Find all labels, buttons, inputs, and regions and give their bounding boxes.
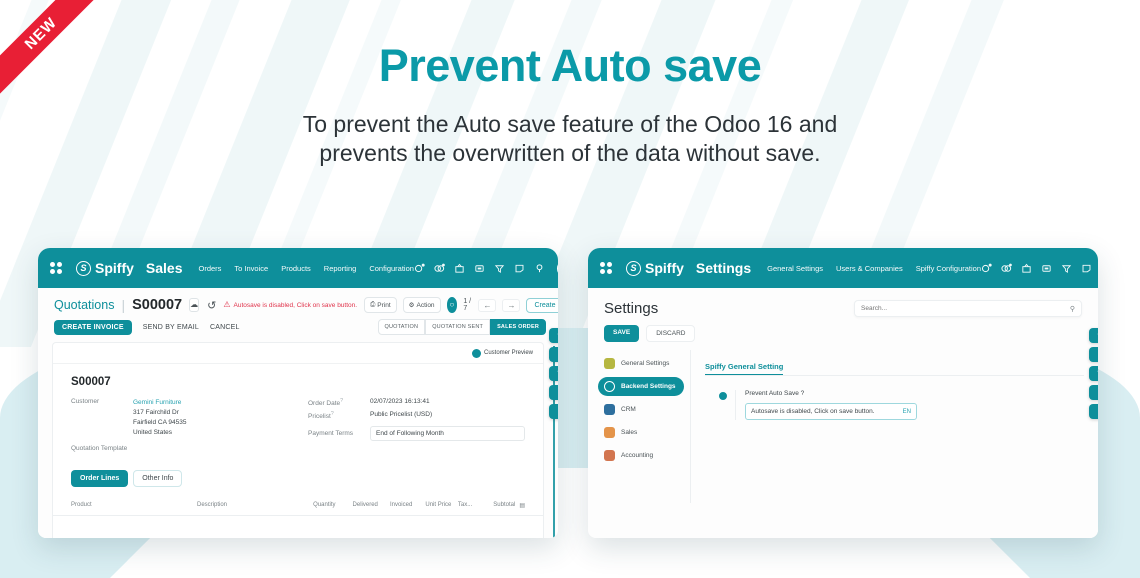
field-order-date-value[interactable]: 02/07/2023 16:13:41 xyxy=(370,398,430,407)
settings-menu: General Settings Users & Companies Spiff… xyxy=(767,264,981,273)
note-icon[interactable] xyxy=(1081,263,1092,274)
crm-tile-icon xyxy=(604,404,615,415)
breadcrumb-separator: | xyxy=(121,297,125,313)
customer-preview-button[interactable]: Customer Preview xyxy=(472,349,533,358)
customer-link[interactable]: Gemini Furniture xyxy=(133,398,186,408)
settings-header: Settings ⚲ xyxy=(588,288,1098,317)
search-icon[interactable]: ⚲ xyxy=(1089,347,1098,362)
form-column-left: Customer Gemini Furniture 317 Fairchild … xyxy=(71,398,282,456)
print-button[interactable]: ⎙Print xyxy=(364,297,397,313)
zoom-search-icon[interactable]: ⚲ xyxy=(549,385,558,400)
column-tax: Tax... xyxy=(458,502,493,509)
field-customer-label: Customer xyxy=(71,398,133,438)
bookmark-icon[interactable]: ⚑ xyxy=(1089,404,1098,419)
menu-item-general-settings[interactable]: General Settings xyxy=(767,264,823,273)
printer-icon: ⎙ xyxy=(370,301,375,309)
field-order-date: Order Date? 02/07/2023 16:13:41 xyxy=(308,398,525,407)
order-lines-header: Product Description Quantity Delivered I… xyxy=(53,493,543,516)
form-column-right: Order Date? 02/07/2023 16:13:41 Pricelis… xyxy=(308,398,525,456)
settings-content: Settings ⚲ SAVE DISCARD General Settings… xyxy=(588,288,1098,538)
printer-icon[interactable] xyxy=(454,263,465,274)
menu-item-to-invoice[interactable]: To Invoice xyxy=(234,264,268,273)
field-pricelist-label: Pricelist? xyxy=(308,411,370,420)
action-button[interactable]: ⚙Action xyxy=(403,297,441,313)
spiffy-mark-icon: S xyxy=(626,261,641,276)
sheet-top-row: Customer Preview xyxy=(53,343,543,364)
hero-section: Prevent Auto save To prevent the Auto sa… xyxy=(0,40,1140,168)
star-icon[interactable]: ☆ xyxy=(549,328,558,343)
menu-item-users-and-companies[interactable]: Users & Companies xyxy=(836,264,903,273)
brand-name: Spiffy xyxy=(645,260,684,276)
discard-undo-icon[interactable]: ↺ xyxy=(207,299,216,312)
sidebar-item-label: Sales xyxy=(621,429,637,436)
customer-address-line-1: 317 Fairchild Dr xyxy=(133,408,186,418)
spiffy-mark-icon: S xyxy=(76,261,91,276)
settings-page-title: Settings xyxy=(604,300,658,317)
record-title: S00007 xyxy=(53,364,543,398)
accounting-tile-icon xyxy=(604,450,615,461)
menu-item-reporting[interactable]: Reporting xyxy=(324,264,357,273)
messages-icon[interactable] xyxy=(1001,263,1012,274)
create-invoice-button[interactable]: CREATE INVOICE xyxy=(54,320,132,335)
column-invoiced: Invoiced xyxy=(390,502,425,509)
save-button[interactable]: SAVE xyxy=(604,325,639,342)
autosave-message-value: Autosave is disabled, Click on save butt… xyxy=(751,408,903,415)
printer-icon[interactable] xyxy=(1021,263,1032,274)
discard-button[interactable]: DISCARD xyxy=(646,325,695,342)
page-title: Prevent Auto save xyxy=(0,40,1140,92)
search-icon[interactable]: ⚲ xyxy=(549,347,558,362)
field-quotation-template-label: Quotation Template xyxy=(71,445,133,452)
bookmark-icon[interactable]: ⚑ xyxy=(549,404,558,419)
sidebar-item-label: CRM xyxy=(621,406,636,413)
apps-grid-icon[interactable] xyxy=(600,262,612,274)
gear-tile-icon xyxy=(604,358,615,369)
menu-item-configuration[interactable]: Configuration xyxy=(369,264,414,273)
menu-item-orders[interactable]: Orders xyxy=(198,264,221,273)
status-pipeline: QUOTATION QUOTATION SENT SALES ORDER xyxy=(378,319,547,335)
breadcrumb-parent[interactable]: Quotations xyxy=(54,298,114,312)
sidebar-item-sales[interactable]: Sales xyxy=(598,423,684,442)
record-controls: ⎙Print ⚙Action ○ 1 / 7 ← → Create xyxy=(364,297,558,313)
column-options-icon[interactable]: ▤ xyxy=(519,502,525,509)
field-pricelist: Pricelist? Public Pricelist (USD) xyxy=(308,411,525,420)
pin-icon[interactable] xyxy=(534,263,545,274)
menu-item-spiffy-configuration[interactable]: Spiffy Configuration xyxy=(916,264,981,273)
sidebar-item-crm[interactable]: CRM xyxy=(598,400,684,419)
breadcrumb-current: S00007 xyxy=(132,297,182,313)
sheet-tabs: Order Lines Other Info xyxy=(53,456,543,487)
page-subtitle: To prevent the Auto save feature of the … xyxy=(0,110,1140,168)
cancel-button[interactable]: CANCEL xyxy=(210,324,240,331)
star-icon[interactable]: ☆ xyxy=(1089,328,1098,343)
sales-topbar: S Spiffy Sales Orders To Invoice Product… xyxy=(38,248,558,288)
settings-body: General Settings Backend Settings CRM Sa… xyxy=(588,350,1098,503)
save-cloud-icon[interactable]: ☁ xyxy=(189,298,199,312)
record-action-row: CREATE INVOICE SEND BY EMAIL CANCEL QUOT… xyxy=(38,317,558,342)
app-name: Sales xyxy=(146,260,183,276)
status-sales-order[interactable]: SALES ORDER xyxy=(490,319,546,335)
field-quotation-template: Quotation Template xyxy=(71,445,282,452)
column-product: Product xyxy=(71,502,197,509)
autosave-message-input[interactable]: Autosave is disabled, Click on save butt… xyxy=(745,403,917,420)
avatar[interactable] xyxy=(557,259,558,278)
action-label: Action xyxy=(416,302,434,309)
zoom-search-icon[interactable]: ⚲ xyxy=(1089,385,1098,400)
edit-pencil-icon[interactable]: ✎ xyxy=(1089,366,1098,381)
autosave-warning: ⚠ Autosave is disabled, Click on save bu… xyxy=(223,301,357,309)
sidebar-item-label: Backend Settings xyxy=(621,383,676,390)
edit-pencil-icon[interactable]: ✎ xyxy=(549,366,558,381)
column-subtotal: Subtotal xyxy=(493,502,515,509)
gear-icon: ⚙ xyxy=(409,301,415,309)
messages-icon[interactable] xyxy=(434,263,445,274)
column-description: Description xyxy=(197,502,313,509)
apps-switch-icon[interactable] xyxy=(1041,263,1052,274)
page-subtitle-line-2: prevents the overwritten of the data wit… xyxy=(0,139,1140,168)
sales-menu: Orders To Invoice Products Reporting Con… xyxy=(198,264,413,273)
sales-tile-icon xyxy=(604,427,615,438)
brand-name: Spiffy xyxy=(95,260,134,276)
prevent-auto-save-option: Prevent Auto Save ? Autosave is disabled… xyxy=(705,376,1084,420)
sales-topbar-right xyxy=(414,259,558,278)
print-label: Print xyxy=(377,302,390,309)
autosave-warning-text: Autosave is disabled, Click on save butt… xyxy=(234,302,358,309)
sales-content: Quotations | S00007 ☁ ↺ ⚠ Autosave is di… xyxy=(38,288,558,538)
arrow-right-icon[interactable]: → xyxy=(502,299,520,312)
app-name: Settings xyxy=(696,260,751,276)
customer-address-line-3: United States xyxy=(133,428,186,438)
field-customer-value: Gemini Furniture 317 Fairchild Dr Fairfi… xyxy=(133,398,186,438)
field-payment-terms-label: Payment Terms xyxy=(308,430,370,437)
settings-topbar: S Spiffy Settings General Settings Users… xyxy=(588,248,1098,288)
activities-icon[interactable] xyxy=(981,263,992,274)
form-grid: Customer Gemini Furniture 317 Fairchild … xyxy=(53,398,543,456)
customer-preview-label: Customer Preview xyxy=(484,350,533,358)
spiffy-logo[interactable]: S Spiffy xyxy=(626,260,684,276)
spiffy-logo[interactable]: S Spiffy xyxy=(76,260,134,276)
activities-icon[interactable] xyxy=(414,263,425,274)
sidebar-item-accounting[interactable]: Accounting xyxy=(598,446,684,465)
column-delivered: Delivered xyxy=(353,502,390,509)
apps-grid-icon[interactable] xyxy=(50,262,62,274)
tab-order-lines[interactable]: Order Lines xyxy=(71,470,128,487)
field-order-date-label: Order Date? xyxy=(308,398,370,407)
payment-terms-input[interactable]: End of Following Month xyxy=(370,426,525,441)
page-subtitle-line-1: To prevent the Auto save feature of the … xyxy=(0,110,1140,139)
field-payment-terms: Payment Terms End of Following Month xyxy=(308,426,525,441)
settings-app-window: S Spiffy Settings General Settings Users… xyxy=(588,248,1098,538)
menu-item-products[interactable]: Products xyxy=(281,264,311,273)
settings-topbar-right xyxy=(981,259,1098,278)
prevent-auto-save-label: Prevent Auto Save ? xyxy=(745,390,917,397)
filter-icon[interactable] xyxy=(1061,263,1072,274)
column-unit-price: Unit Price xyxy=(425,502,457,509)
field-pricelist-value[interactable]: Public Pricelist (USD) xyxy=(370,411,432,420)
settings-main-panel: Spiffy General Setting Prevent Auto Save… xyxy=(690,350,1098,503)
status-quotation-sent[interactable]: QUOTATION SENT xyxy=(425,319,490,335)
sidebar-item-general-settings[interactable]: General Settings xyxy=(598,354,684,373)
field-customer: Customer Gemini Furniture 317 Fairchild … xyxy=(71,398,282,438)
create-button[interactable]: Create xyxy=(526,298,558,313)
sidebar-item-label: Accounting xyxy=(621,452,653,459)
warning-triangle-icon: ⚠ xyxy=(223,301,230,309)
spiffy-tile-icon xyxy=(604,381,615,392)
arrow-left-icon[interactable]: ← xyxy=(478,299,496,312)
option-body: Prevent Auto Save ? Autosave is disabled… xyxy=(735,390,917,420)
gear-circle-icon[interactable]: ○ xyxy=(447,297,458,313)
tab-other-info[interactable]: Other Info xyxy=(133,470,182,487)
search-icon[interactable]: ⚲ xyxy=(1070,305,1075,313)
search-box[interactable]: ⚲ xyxy=(854,300,1082,317)
apps-switch-icon[interactable] xyxy=(474,263,485,274)
settings-side-toolbar: ☆ ⚲ ✎ ⚲ ⚑ xyxy=(1089,328,1098,419)
note-icon[interactable] xyxy=(514,263,525,274)
sales-side-toolbar: ☆ ⚲ ✎ ⚲ ⚑ xyxy=(549,328,558,419)
section-title: Spiffy General Setting xyxy=(705,362,783,375)
settings-sidebar: General Settings Backend Settings CRM Sa… xyxy=(588,350,690,503)
sidebar-item-backend-settings[interactable]: Backend Settings xyxy=(598,377,684,396)
record-pager: 1 / 7 xyxy=(463,298,472,312)
status-quotation[interactable]: QUOTATION xyxy=(378,319,426,335)
settings-action-row: SAVE DISCARD xyxy=(588,317,1098,350)
globe-icon xyxy=(472,349,481,358)
prevent-auto-save-checkbox[interactable] xyxy=(719,392,727,400)
filter-icon[interactable] xyxy=(494,263,505,274)
customer-address-line-2: Fairfield CA 94535 xyxy=(133,418,186,428)
sidebar-item-label: General Settings xyxy=(621,360,669,367)
column-quantity: Quantity xyxy=(313,502,352,509)
record-sheet: Customer Preview S00007 Customer Gemini … xyxy=(52,342,544,538)
search-input[interactable] xyxy=(861,305,1070,312)
language-badge[interactable]: EN xyxy=(903,409,911,415)
sales-app-window: S Spiffy Sales Orders To Invoice Product… xyxy=(38,248,558,538)
breadcrumb: Quotations | S00007 ☁ ↺ ⚠ Autosave is di… xyxy=(38,288,558,317)
send-by-email-button[interactable]: SEND BY EMAIL xyxy=(143,324,199,331)
